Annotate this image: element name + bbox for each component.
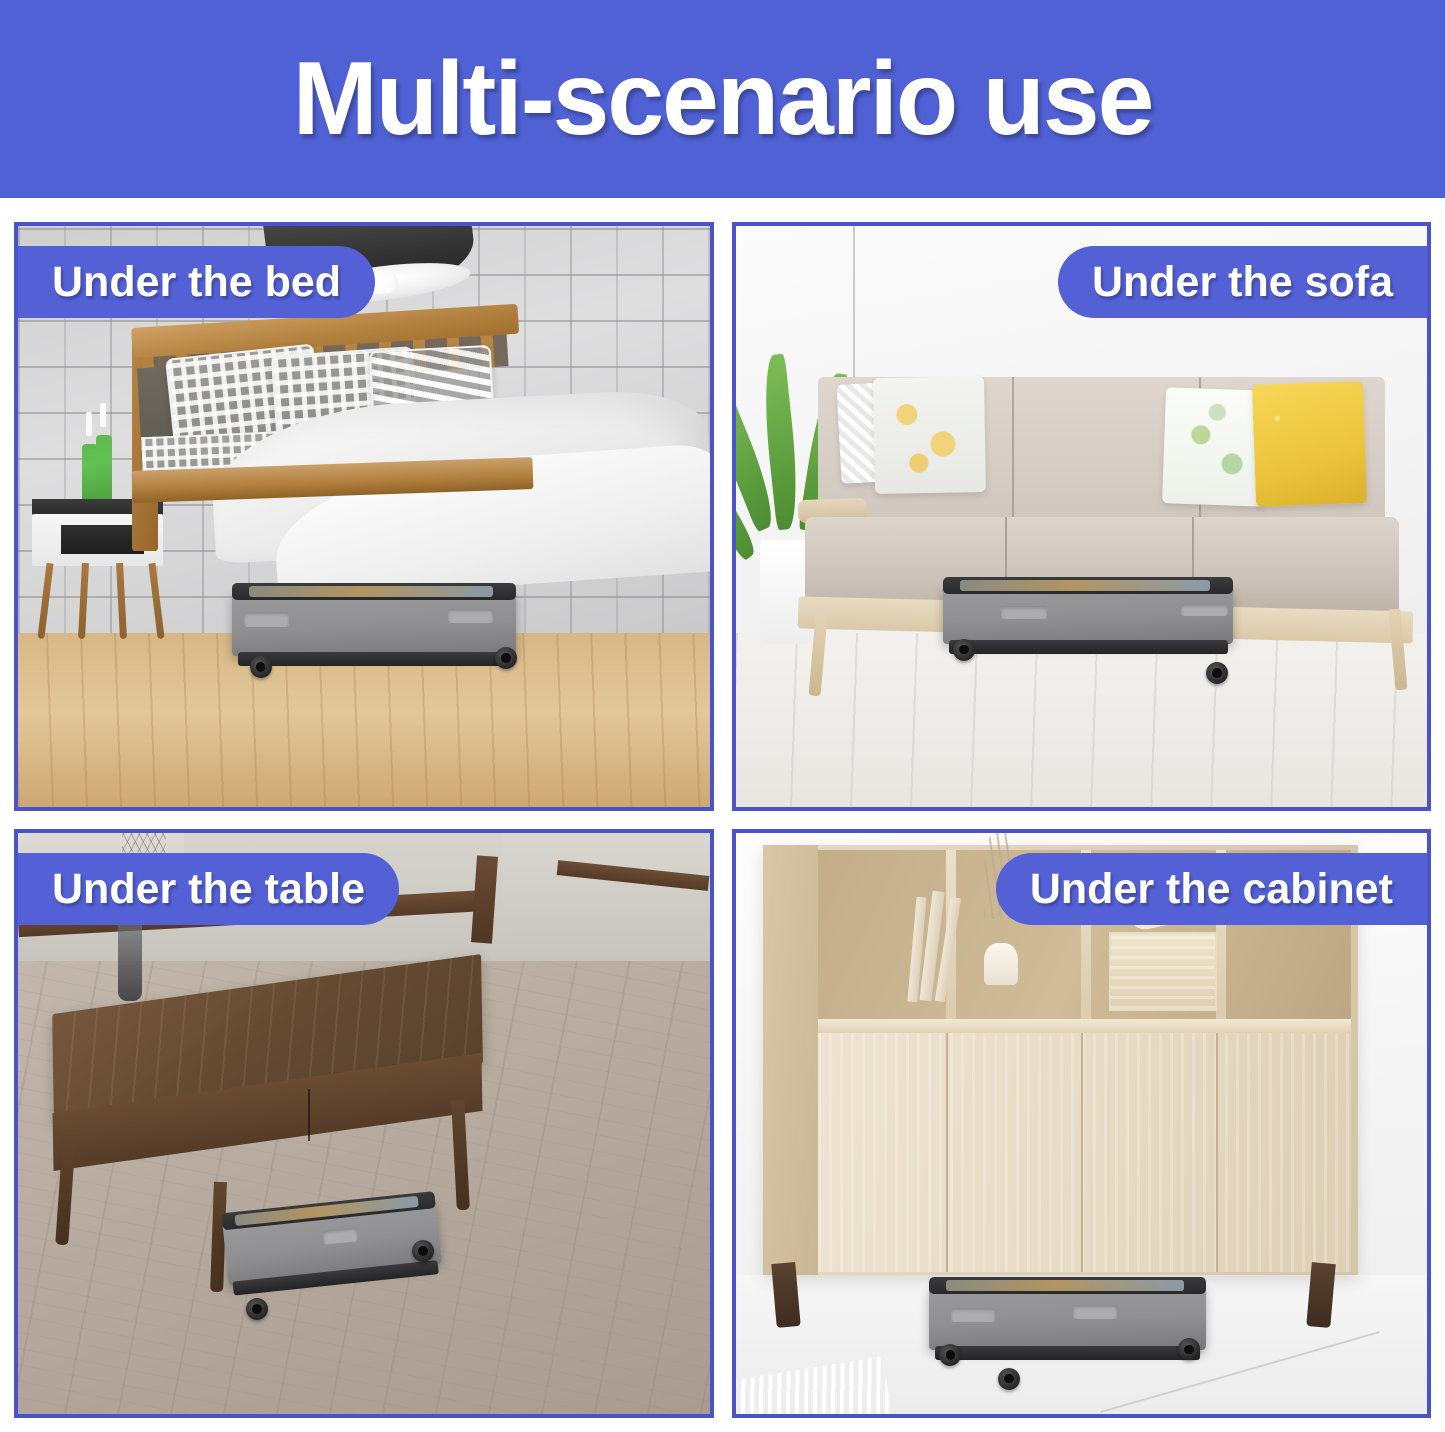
wooden-crate bbox=[1109, 932, 1217, 1012]
storage-box bbox=[929, 1286, 1206, 1350]
scenario-panel-under-the-table[interactable]: Under the table bbox=[14, 829, 714, 1418]
storage-box-handle bbox=[448, 609, 493, 623]
storage-box-handle bbox=[1001, 606, 1047, 619]
panel-label-under-the-sofa: Under the sofa bbox=[1058, 246, 1431, 318]
green-bottle bbox=[96, 435, 112, 505]
plant-pot bbox=[760, 540, 812, 645]
sofa-backrest-seam bbox=[1012, 377, 1014, 528]
storage-box-handle bbox=[1181, 604, 1227, 617]
caster-wheel bbox=[953, 639, 975, 661]
panel-label-text: Under the sofa bbox=[1092, 261, 1393, 304]
caster-wheel bbox=[998, 1368, 1020, 1390]
wood-floor bbox=[736, 633, 1428, 807]
cabinet-side-panel bbox=[763, 845, 818, 1275]
storage-box-handle bbox=[244, 612, 289, 626]
cabinet-door-seam bbox=[1216, 1033, 1218, 1271]
storage-box-clear-window bbox=[249, 586, 493, 597]
panel-label-under-the-table: Under the table bbox=[14, 853, 399, 925]
storage-box-base bbox=[238, 652, 510, 666]
scenario-panel-under-the-bed[interactable]: Under the bed bbox=[14, 222, 714, 811]
scenario-grid: Under the bed bbox=[14, 222, 1431, 1418]
yellow-floral-cushion bbox=[873, 376, 986, 494]
cabinet-door-seam bbox=[1081, 1033, 1083, 1271]
caster-wheel bbox=[250, 656, 272, 678]
caster-wheel bbox=[412, 1240, 434, 1262]
caster-wheel bbox=[1206, 662, 1228, 684]
caster-wheel bbox=[246, 1298, 268, 1320]
storage-box-handle bbox=[323, 1227, 359, 1245]
header-banner: Multi-scenario use bbox=[0, 0, 1445, 198]
storage-box-base bbox=[935, 1346, 1201, 1360]
storage-box-handle bbox=[951, 1308, 995, 1322]
panel-label-text: Under the table bbox=[52, 868, 365, 911]
candle bbox=[86, 412, 92, 436]
yellow-cushion bbox=[1252, 381, 1367, 507]
scenario-panel-under-the-cabinet[interactable]: Under the cabinet bbox=[732, 829, 1432, 1418]
infographic-page: Multi-scenario use bbox=[0, 0, 1445, 1432]
panel-label-under-the-bed: Under the bed bbox=[14, 246, 375, 318]
storage-box bbox=[223, 1200, 443, 1286]
storage-box bbox=[232, 592, 516, 656]
storage-box-base bbox=[949, 640, 1228, 654]
panel-label-under-the-cabinet: Under the cabinet bbox=[996, 853, 1431, 925]
storage-box bbox=[943, 586, 1233, 644]
page-title: Multi-scenario use bbox=[293, 47, 1153, 151]
ceramic-vase bbox=[984, 943, 1018, 985]
storage-box-handle bbox=[1073, 1305, 1117, 1319]
cabinet-doors bbox=[818, 1033, 1350, 1271]
candle bbox=[100, 403, 106, 427]
cabinet-shelf-lip bbox=[818, 1019, 1350, 1034]
panel-label-text: Under the cabinet bbox=[1030, 868, 1393, 911]
storage-box-clear-window bbox=[946, 1280, 1184, 1291]
storage-box-clear-window bbox=[960, 580, 1210, 591]
cabinet-leg bbox=[771, 1262, 800, 1328]
panel-label-text: Under the bed bbox=[52, 261, 341, 304]
scenario-panel-under-the-sofa[interactable]: Under the sofa bbox=[732, 222, 1432, 811]
cabinet-door-seam bbox=[946, 1033, 948, 1271]
